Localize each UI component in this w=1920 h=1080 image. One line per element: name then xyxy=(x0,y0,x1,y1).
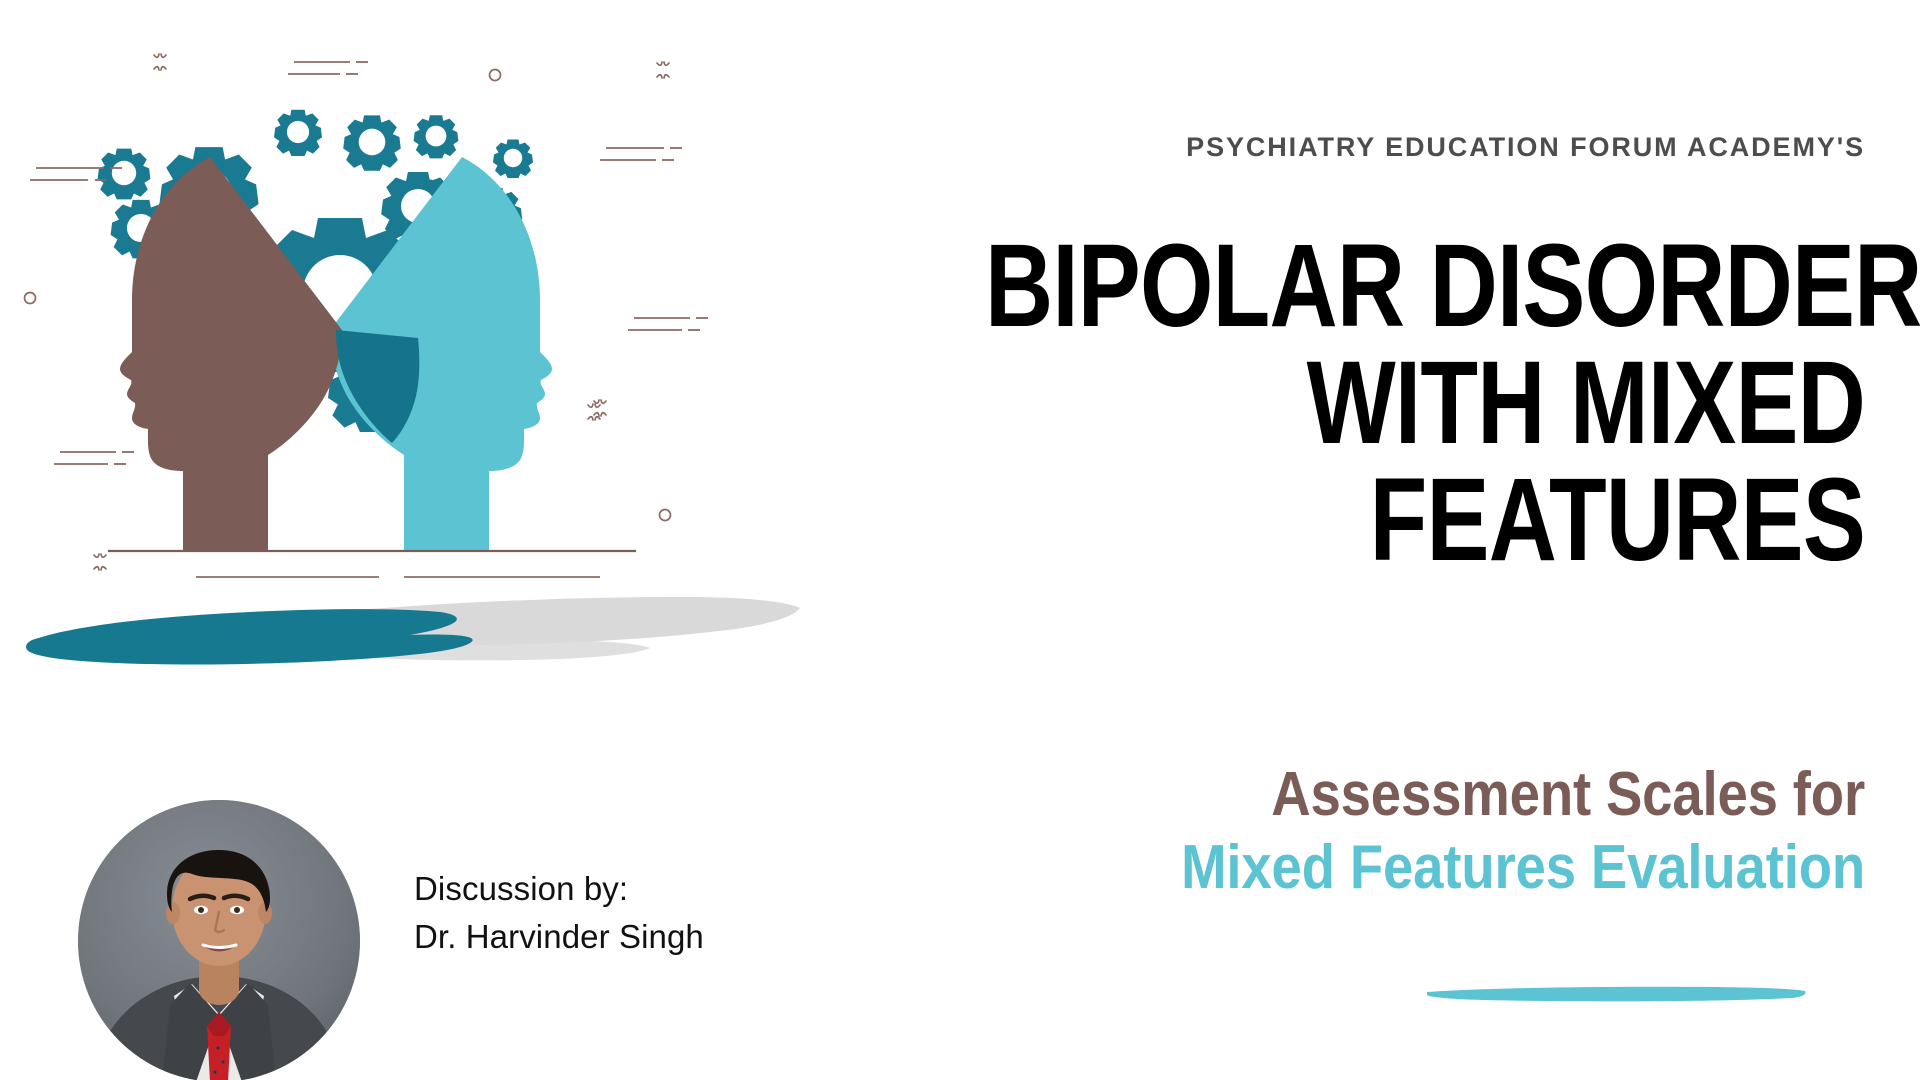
headshot-illustration xyxy=(78,800,360,1080)
subtitle-line-2: Mixed Features Evaluation xyxy=(897,831,1865,904)
speaker-portrait xyxy=(78,800,360,1080)
speaker-credit: Discussion by: Dr. Harvinder Singh xyxy=(414,865,754,961)
speaker-name: Dr. Harvinder Singh xyxy=(414,913,754,961)
subtitle-block: Assessment Scales for Mixed Features Eva… xyxy=(765,758,1865,904)
gears-and-heads-illustration xyxy=(0,0,800,800)
title-line-3: FEATURES xyxy=(985,462,1865,579)
avatar xyxy=(78,800,360,1080)
discussion-by-label: Discussion by: xyxy=(414,865,754,913)
eyebrow-heading: PSYCHIATRY EDUCATION FORUM ACADEMY'S xyxy=(1186,132,1865,163)
text-column: PSYCHIATRY EDUCATION FORUM ACADEMY'S BIP… xyxy=(765,0,1865,1080)
head-profile-brown-icon xyxy=(120,157,342,550)
page-title: BIPOLAR DISORDER WITH MIXED FEATURES xyxy=(765,228,1865,578)
title-line-2: WITH MIXED xyxy=(985,345,1865,462)
slide-canvas: Discussion by: Dr. Harvinder Singh PSYCH… xyxy=(0,0,1920,1080)
subtitle-underline-brush-icon xyxy=(1423,985,1808,1002)
subtitle-line-1: Assessment Scales for xyxy=(897,758,1865,831)
title-line-1: BIPOLAR DISORDER xyxy=(985,228,1865,345)
